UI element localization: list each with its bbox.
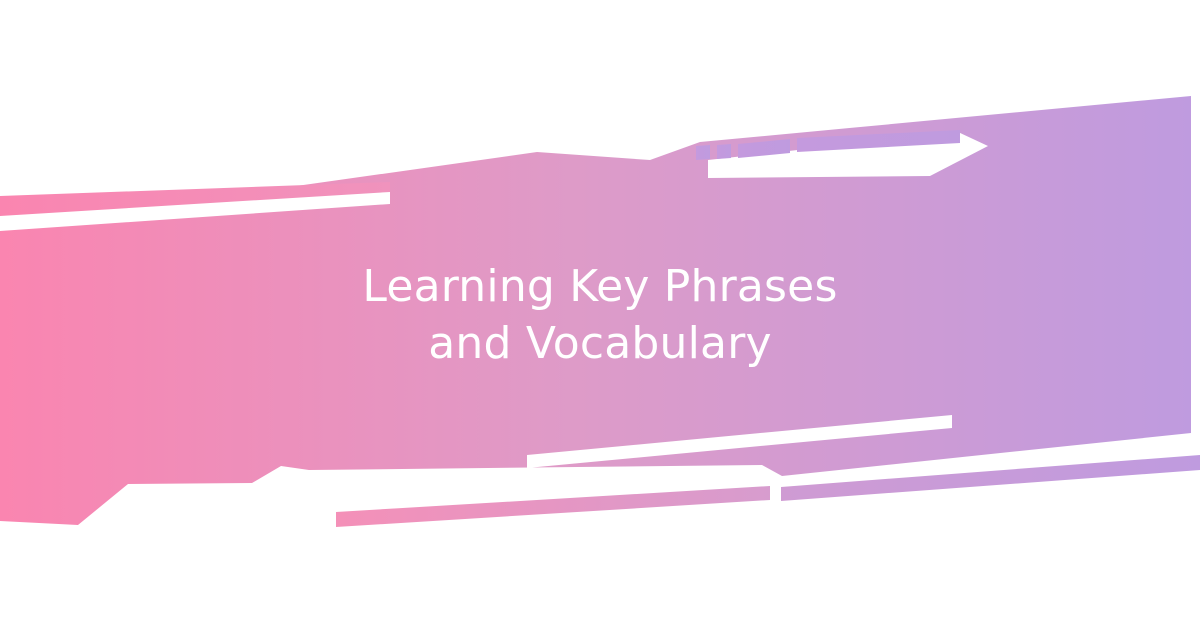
decorative-background-art	[0, 0, 1200, 630]
bottom-pink-stripe	[336, 486, 770, 527]
banner-canvas: Learning Key Phrases and Vocabulary	[0, 0, 1200, 630]
